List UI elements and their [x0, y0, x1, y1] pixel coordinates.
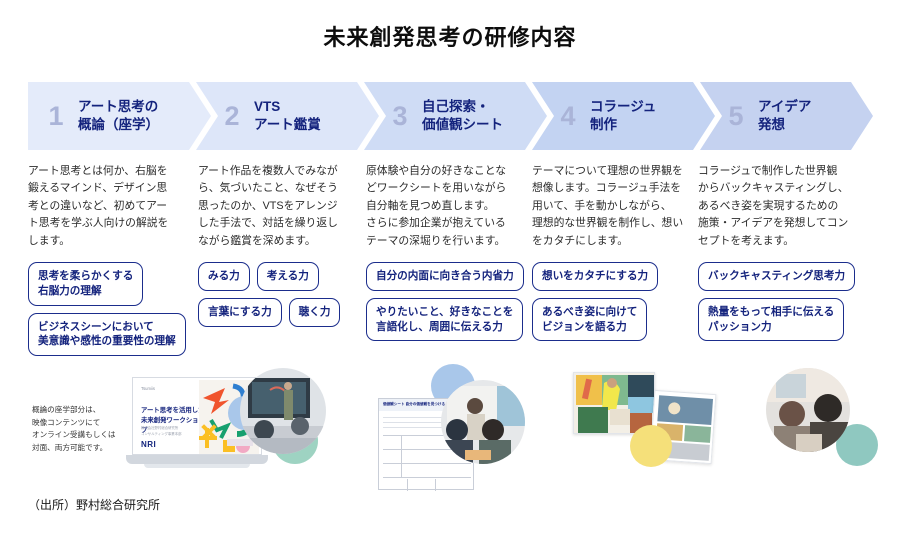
- step-description-3: 原体験や自分の好きなことな どワークシートを用いながら 自分軸を見つめ直します。…: [366, 163, 536, 250]
- tag-item[interactable]: バックキャスティング思考力: [698, 262, 855, 291]
- step-label-5: アイデア 発想: [758, 98, 811, 134]
- slide-kicker: Tsumiis: [141, 386, 155, 391]
- step-chevron-2[interactable]: 2 VTS アート鑑賞: [196, 82, 379, 150]
- worksheet-heading: 価値観シート 自分の価値観を見つける: [383, 402, 445, 407]
- tag-item[interactable]: ビジネスシーンにおいて 美意識や感性の重要性の理解: [28, 313, 186, 357]
- nri-logo: NRI: [141, 440, 156, 449]
- page-title: 未来創発思考の研修内容: [0, 0, 900, 52]
- worksheet-rule: [383, 477, 471, 478]
- worksheet-rule: [383, 463, 471, 464]
- step-chevron-1[interactable]: 1 アート思考の 概論（座学）: [28, 82, 211, 150]
- step-description-4: テーマについて理想の世界観を 想像します。コラージュ手法を 用いて、手を動かしな…: [532, 163, 702, 250]
- tag-item[interactable]: 熱量をもって相手に伝える パッション力: [698, 298, 844, 342]
- source-line: （出所）野村総合研究所: [28, 496, 160, 513]
- step-tags-2: みる力 考える力 言葉にする力 聴く力: [198, 262, 364, 327]
- step-chevron-row: 1 アート思考の 概論（座学） 2 VTS アート鑑賞 3 自己探索・ 価値観シ…: [28, 82, 873, 150]
- step-chevron-3[interactable]: 3 自己探索・ 価値観シート: [364, 82, 547, 150]
- tag-item[interactable]: 想いをカタチにする力: [532, 262, 658, 291]
- step-description-2: アート作品を複数人でみなが ら、気づいたこと、なぜそう 思ったのか、VTSをアレ…: [198, 163, 362, 250]
- tag-item[interactable]: 考える力: [257, 262, 319, 291]
- collage-card-main: [573, 372, 655, 434]
- photo-discussion: [441, 380, 525, 464]
- photo-discussion-image: [441, 380, 525, 464]
- decorative-circle-yellow: [630, 425, 672, 467]
- laptop-base: [126, 455, 268, 464]
- step-number-2: 2: [218, 101, 246, 132]
- step-label-3: 自己探索・ 価値観シート: [422, 98, 503, 134]
- step-description-1: アート思考とは何か、右脳を 鍛えるマインド、デザイン思 考との違いなど、初めてア…: [28, 163, 192, 250]
- step-tags-4: 想いをカタチにする力 あるべき姿に向けて ビジョンを語る力: [532, 262, 692, 341]
- slide-footer-mark: [227, 439, 253, 446]
- tag-item[interactable]: みる力: [198, 262, 250, 291]
- slide-subtitle: 株式会社野村総合研究所 コンサルティング事業本部: [141, 426, 201, 438]
- step-chevron-4[interactable]: 4 コラージュ 制作: [532, 82, 715, 150]
- tag-item[interactable]: 自分の内面に向き合う内省力: [366, 262, 524, 291]
- step-label-1: アート思考の 概論（座学）: [78, 98, 159, 134]
- photo-lecture-room: [240, 368, 326, 454]
- photo-idea-session: [766, 368, 850, 452]
- photo-lecture-room-image: [240, 368, 326, 454]
- worksheet-rule: [401, 435, 402, 477]
- step-number-3: 3: [386, 101, 414, 132]
- tag-item[interactable]: 言葉にする力: [198, 298, 282, 327]
- laptop-foot: [144, 464, 250, 468]
- step-tags-5: バックキャスティング思考力 熱量をもって相手に伝える パッション力: [698, 262, 874, 341]
- worksheet-rule: [435, 479, 436, 491]
- tag-item[interactable]: あるべき姿に向けて ビジョンを語る力: [532, 298, 647, 342]
- tag-item[interactable]: 思考を柔らかくする 右脳力の理解: [28, 262, 143, 306]
- online-learning-note: 概論の座学部分は、 映像コンテンツにて オンライン受講もしくは 対面、両方可能で…: [32, 404, 137, 454]
- tag-item[interactable]: やりたいこと、好きなことを 言語化し、周囲に伝える力: [366, 298, 523, 342]
- step-number-1: 1: [42, 101, 70, 132]
- step-label-2: VTS アート鑑賞: [254, 98, 321, 134]
- step-number-4: 4: [554, 101, 582, 132]
- step-label-4: コラージュ 制作: [590, 98, 656, 134]
- collage-artwork-icon: [574, 373, 655, 434]
- worksheet-rule: [407, 479, 408, 491]
- photo-idea-session-image: [766, 368, 850, 452]
- step-chevron-5[interactable]: 5 アイデア 発想: [700, 82, 873, 150]
- step-number-5: 5: [722, 101, 750, 132]
- step-description-5: コラージュで制作した世界観 からバックキャスティングし、 あるべき姿を実現するた…: [698, 163, 870, 250]
- step-tags-1: 思考を柔らかくする 右脳力の理解 ビジネスシーンにおいて 美意識や感性の重要性の…: [28, 262, 194, 356]
- tag-item[interactable]: 聴く力: [289, 298, 341, 327]
- step-tags-3: 自分の内面に向き合う内省力 やりたいこと、好きなことを 言語化し、周囲に伝える力: [366, 262, 534, 341]
